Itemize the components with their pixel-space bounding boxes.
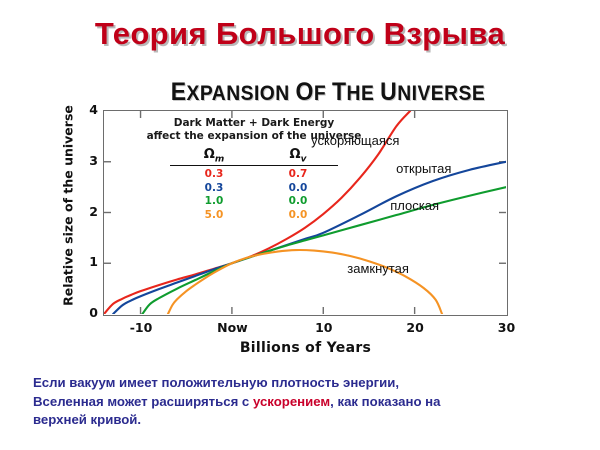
legend-omega-m-value: 5.0: [170, 207, 258, 221]
x-tick-label: Now: [217, 320, 248, 335]
legend-header-omega-v: Ωv: [258, 147, 338, 166]
legend-omega-v-value: 0.0: [258, 194, 338, 208]
legend-omega-m-value: 0.3: [170, 180, 258, 194]
legend-header-omega-m: Ωm: [170, 147, 258, 166]
curve-label-открытая: открытая: [396, 161, 451, 176]
legend-row: 0.30.0: [170, 180, 338, 194]
y-axis-ticks: 01234: [70, 110, 98, 316]
plot-area: Dark Matter + Dark Energy affect the exp…: [103, 110, 508, 316]
curve-5-0-0-0: [168, 250, 442, 314]
y-tick-label: 1: [76, 254, 98, 269]
legend-omega-v-value: 0.0: [258, 180, 338, 194]
x-tick-label: -10: [130, 320, 153, 335]
y-tick-label: 4: [76, 102, 98, 117]
caption: Если вакуум имеет положительную плотност…: [33, 374, 573, 430]
y-tick-label: 3: [76, 153, 98, 168]
legend-table: Ωm Ωv 0.30.70.30.01.00.05.00.0: [170, 147, 338, 221]
curve-label-плоская: плоская: [390, 198, 439, 213]
legend-omega-v-value: 0.0: [258, 207, 338, 221]
x-tick-label: 10: [315, 320, 332, 335]
legend-body: 0.30.70.30.01.00.05.00.0: [170, 166, 338, 221]
legend-row: 1.00.0: [170, 194, 338, 208]
expansion-of-universe-figure: EXPANSION OF THE UNIVERSE Relative size …: [18, 70, 558, 362]
curve-label-ускоряющаяся: ускоряющаяся: [311, 133, 399, 148]
y-tick-label: 0: [76, 305, 98, 320]
legend-omega-m-value: 0.3: [170, 166, 258, 180]
legend-header-row: Ωm Ωv: [170, 147, 338, 166]
caption-line-2: Вселенная может расширяться с ускорением…: [33, 393, 573, 412]
x-axis-label: Billions of Years: [103, 340, 508, 356]
legend-omega-v-value: 0.7: [258, 166, 338, 180]
legend-heading-line1: Dark Matter + Dark Energy: [134, 117, 374, 130]
caption-line-1: Если вакуум имеет положительную плотност…: [33, 374, 573, 393]
x-axis-ticks: -10Now102030: [103, 320, 508, 338]
x-tick-label: 30: [498, 320, 515, 335]
slide-title: Теория Большого Взрыва: [0, 16, 600, 52]
y-tick-label: 2: [76, 204, 98, 219]
caption-accent-word: ускорением: [253, 394, 330, 409]
caption-line-2-part-a: Вселенная может расширяться с: [33, 394, 253, 409]
caption-line-3: верхней кривой.: [33, 411, 573, 430]
x-tick-label: 20: [406, 320, 423, 335]
legend-omega-m-value: 1.0: [170, 194, 258, 208]
caption-line-2-part-b: , как показано на: [330, 394, 440, 409]
curve-label-замкнутая: замкнутая: [347, 261, 409, 276]
legend-row: 5.00.0: [170, 207, 338, 221]
chart-title: EXPANSION OF THE UNIVERSE: [144, 78, 512, 107]
legend-row: 0.30.7: [170, 166, 338, 180]
